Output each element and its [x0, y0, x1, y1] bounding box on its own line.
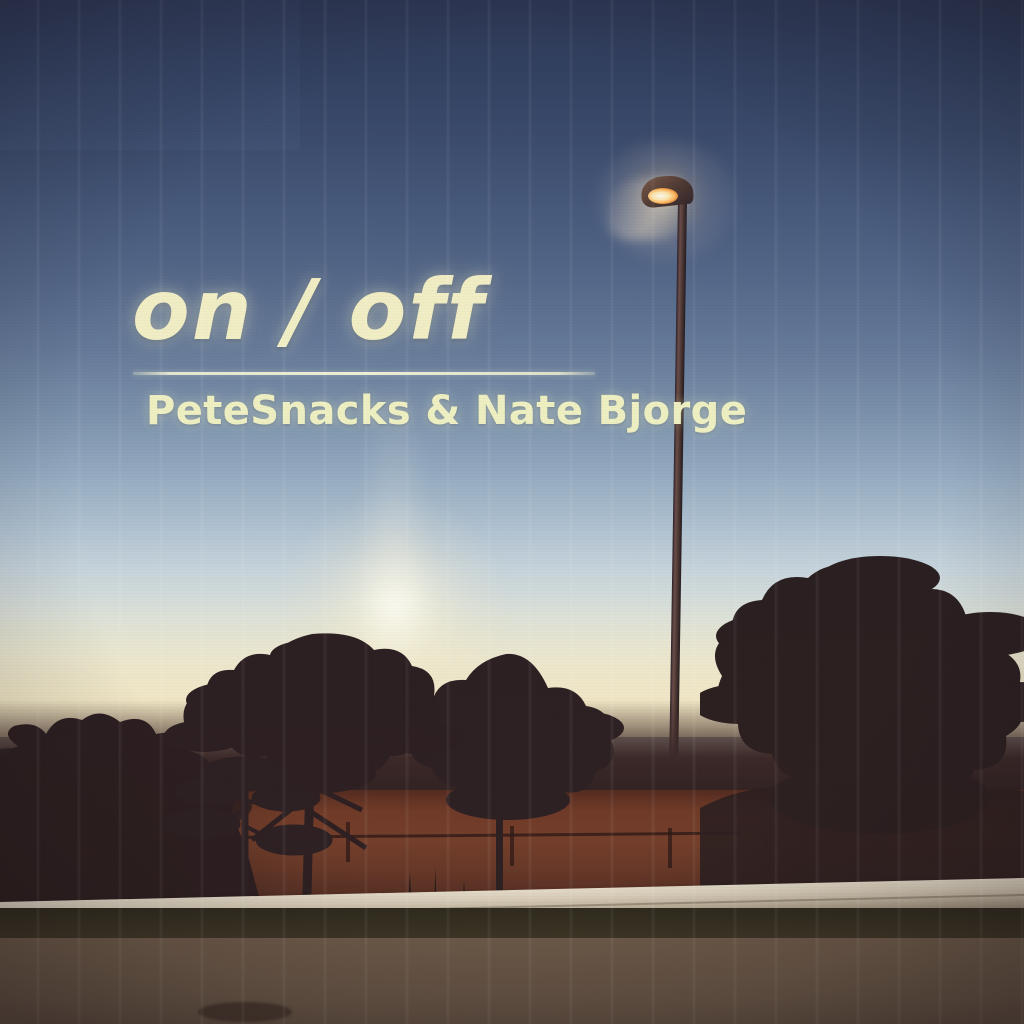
- roadway: [0, 938, 1024, 1024]
- title-block: on / off PeteSnacks & Nate Bjorge: [132, 268, 602, 433]
- court-fence-post: [668, 828, 672, 868]
- court-fence-post: [510, 826, 514, 866]
- album-cover: on / off PeteSnacks & Nate Bjorge: [0, 0, 1024, 1024]
- album-title: on / off: [132, 268, 602, 354]
- street-lamp-bulb-icon: [648, 188, 678, 204]
- manhole-cover: [198, 1002, 292, 1022]
- court-fence-post: [346, 822, 350, 862]
- title-divider: [133, 372, 595, 375]
- court-fence-post: [186, 820, 190, 860]
- album-artists: PeteSnacks & Nate Bjorge: [146, 389, 602, 433]
